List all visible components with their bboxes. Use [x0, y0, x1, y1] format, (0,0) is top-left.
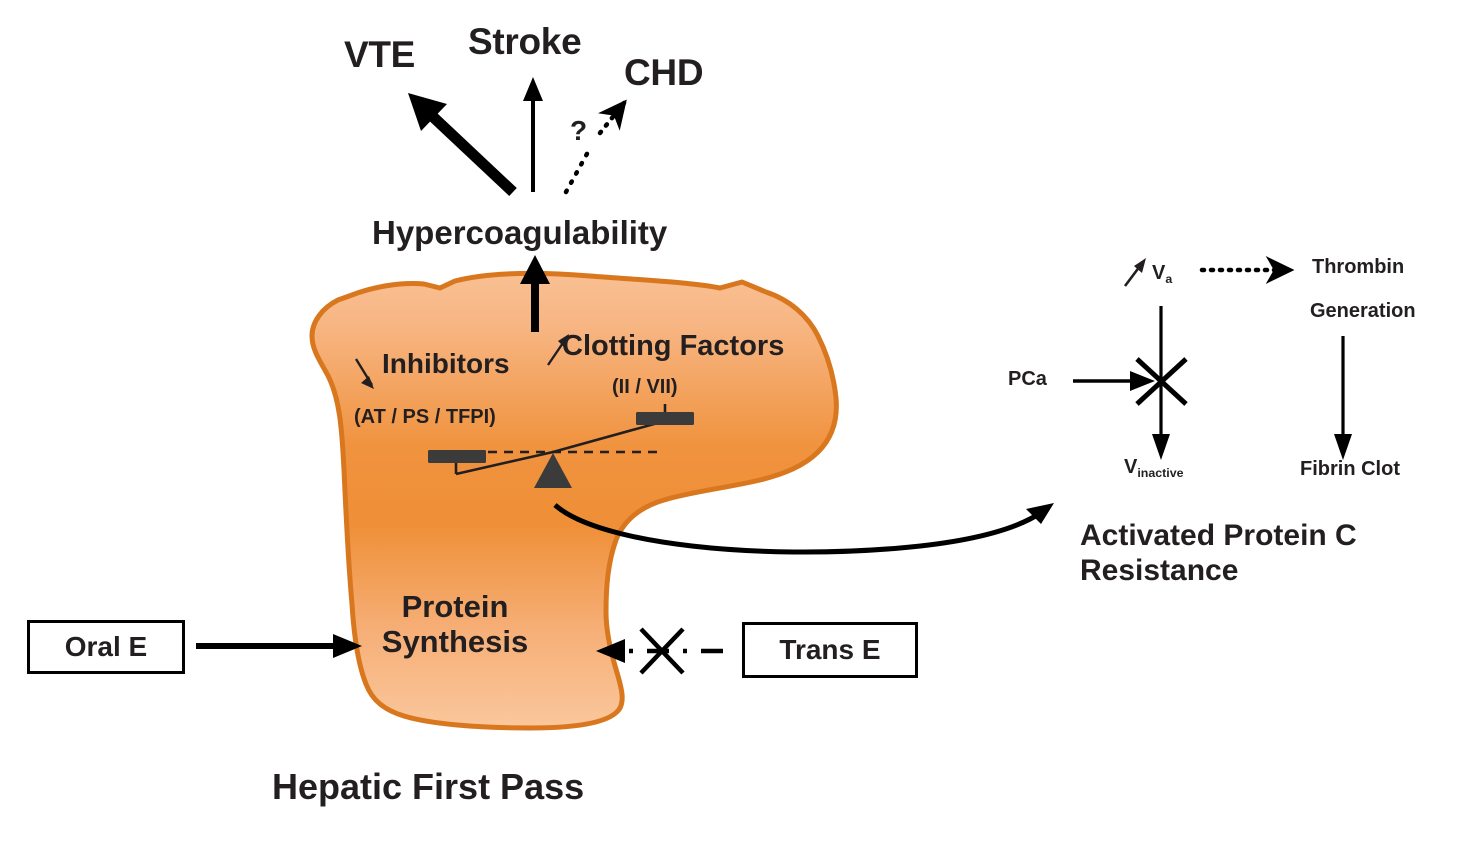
clotting-factors-label: Clotting Factors: [562, 330, 784, 363]
va-label: Va: [1152, 262, 1172, 285]
arrow-hyper-to-stroke: [523, 77, 543, 192]
arrow-thrombin-to-fibrin: [1334, 336, 1352, 460]
thrombin-line2: Generation: [1310, 300, 1416, 323]
apc-resistance-line1: Activated Protein C: [1080, 518, 1357, 553]
footer-label: Hepatic First Pass: [272, 766, 584, 808]
oral-e-box[interactable]: Oral E: [27, 620, 185, 674]
apc-resistance-title: Activated Protein C Resistance: [1080, 518, 1357, 589]
vinactive-label: Vinactive: [1124, 456, 1184, 479]
inhibitors-sublabel: (AT / PS / TFPI): [354, 406, 496, 429]
diagram-vector-layer: [0, 0, 1472, 841]
hypercoagulability-label: Hypercoagulability: [372, 214, 667, 252]
thrombin-line1: Thrombin: [1312, 256, 1404, 279]
inhibitors-label: Inhibitors: [382, 348, 510, 380]
va-subscript: a: [1165, 272, 1172, 286]
va-up-arrow-icon: [1125, 258, 1146, 286]
chd-question-mark: ?: [570, 115, 587, 147]
arrow-oral-e-to-liver: [196, 634, 362, 658]
balance-pan-right: [636, 412, 694, 425]
protein-synthesis-label: Protein Synthesis: [360, 590, 550, 659]
fibrin-clot-label: Fibrin Clot: [1300, 458, 1400, 481]
arrow-hyper-to-vte: [408, 93, 513, 192]
arrow-pca-to-block: [1073, 371, 1155, 391]
outcome-label-stroke: Stroke: [468, 21, 581, 63]
vinactive-subscript: inactive: [1137, 466, 1183, 480]
protein-synthesis-line1: Protein: [360, 590, 550, 625]
protein-synthesis-line2: Synthesis: [360, 625, 550, 660]
trans-e-box[interactable]: Trans E: [742, 622, 918, 678]
pca-label: PCa: [1008, 368, 1047, 391]
outcome-label-vte: VTE: [344, 34, 415, 76]
trans-e-label: Trans E: [779, 634, 880, 666]
outcome-label-chd: CHD: [624, 52, 703, 94]
balance-pan-left: [428, 450, 486, 463]
apc-resistance-line2: Resistance: [1080, 553, 1357, 588]
oral-e-label: Oral E: [65, 631, 147, 663]
clotting-factors-sublabel: (II / VII): [612, 376, 678, 399]
diagram-canvas: VTE Stroke CHD ? Hypercoagulability Clot…: [0, 0, 1472, 841]
